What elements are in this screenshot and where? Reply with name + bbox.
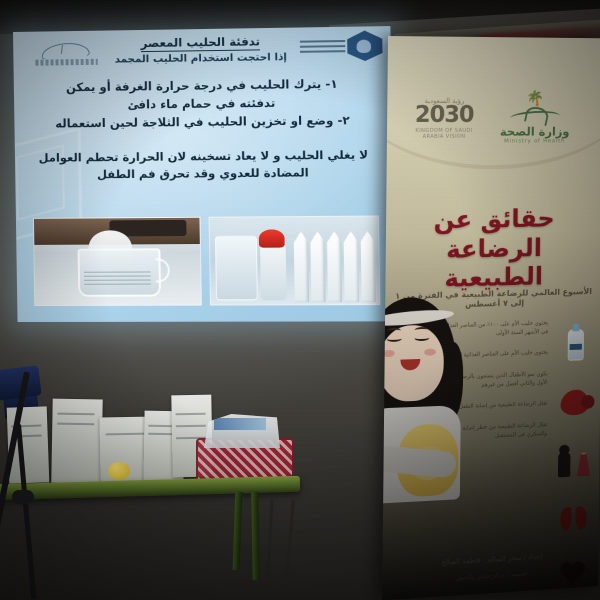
slide-warning: لا يغلي الحليب و لا يعاد تسخينه لان الحر…: [21, 146, 387, 184]
milk-bag: [294, 231, 310, 302]
rollup-banner: رؤية السعودية 2030 KINGDOM OF SAUDI ARAB…: [382, 36, 600, 600]
vision-2030-logo: رؤية السعودية 2030 KINGDOM OF SAUDI ARAB…: [409, 97, 480, 140]
banner-subtitle: الأسبوع العالمي للرضاعة الطبيعية في الفت…: [391, 286, 596, 311]
milk-bag: [360, 231, 376, 302]
vision-2030-number: 2030: [409, 105, 480, 127]
banner-credit-line-1: إعداد / سحر السالم - فاطمة الصالح: [392, 550, 589, 570]
presentation-room-scene: تدفئة الحليب المعصر إذا احتجت استخدام ال…: [0, 0, 600, 600]
tripod-knob: [12, 490, 34, 504]
ministry-english-name: Ministry of Health: [481, 138, 588, 144]
vision-2030-arabic: رؤية السعودية: [409, 97, 479, 105]
photo1-cup-markings: [84, 270, 150, 284]
illustration-face: [382, 324, 444, 402]
milk-bag: [343, 231, 359, 302]
banner-title-line-1: حقائق عن الرضاعة: [390, 203, 597, 265]
slide-warning-line-1: لا يغلي الحليب و لا يعاد تسخينه لان الحر…: [21, 146, 387, 167]
milk-bag: [310, 231, 326, 302]
slide-body-line-3: ٢- وضع او تخزين الحليب في الثلاجة لحين ا…: [22, 112, 383, 133]
illustration-baby: [397, 423, 459, 498]
bottle-in-warm-water-bath-photo: [33, 217, 202, 306]
slide-warning-line-2: المضادة للعدوي وقد تحرق فم الطفل: [21, 164, 387, 184]
illustration-blush-right: [424, 348, 436, 355]
illustration-hair: [382, 296, 456, 424]
banner-curve-decoration: [382, 36, 600, 170]
slide-photo-row: [33, 216, 380, 306]
banner-logo-row: رؤية السعودية 2030 KINGDOM OF SAUDI ARAB…: [387, 91, 600, 151]
tripod-leg: [16, 424, 36, 600]
banner-facts-list: يحتوي حليب الأم على ١٠٠٪ من العناصر الغذ…: [392, 319, 552, 458]
photo2-water-jug: [215, 236, 258, 301]
banner-fact-item: تقلل الرضاعة الطبيعية من خطر إصابة الطفل…: [392, 421, 551, 445]
banner-fact-item: يحتوي حليب الأم على ١٠٠٪ من العناصر الغذ…: [393, 319, 552, 341]
slide-title-text: تدفئة الحليب المعصر: [141, 34, 261, 52]
illustration-headband: [382, 307, 454, 328]
refrigerator-milk-storage-photo: [209, 216, 381, 306]
lemon-prop: [108, 462, 130, 480]
illustration-brow-left: [387, 328, 401, 334]
banner-title-line-2: الطبيعية: [389, 261, 596, 295]
sample-bag-label: [214, 418, 266, 430]
banner-fact-item: يكون نمو الأطفال الذين يتمتعون بالرضاعة …: [392, 370, 551, 393]
mother-holding-baby-illustration: [382, 296, 479, 505]
milk-bag: [327, 231, 343, 302]
illustration-eye-left: [387, 336, 402, 342]
banner-fact-item: تقلل الرضاعة الطبيعية من إصابة الطفل بال…: [392, 400, 551, 415]
palm-swords-icon: 🌴: [481, 91, 588, 106]
vision-2030-english: KINGDOM OF SAUDI ARABIA VISION: [409, 128, 479, 140]
photo2-baby-bottle: [260, 244, 286, 301]
illustration-eye-right: [414, 335, 429, 341]
ministry-arabic-name: وزارة الصحة: [481, 125, 588, 139]
lungs-icon: [552, 490, 596, 545]
banner-icon-column: [551, 318, 597, 600]
illustration-brow-right: [415, 327, 429, 333]
children-growth-icon: [552, 433, 596, 488]
illustration-blush-left: [383, 350, 395, 357]
projected-slide: تدفئة الحليب المعصر إذا احتجت استخدام ال…: [13, 26, 395, 322]
banner-title: حقائق عن الرضاعة الطبيعية: [389, 203, 596, 294]
banner-fact-item: يحتوي حليب الأم على العناصر الغذائية الت…: [393, 349, 552, 363]
illustration-mouth: [400, 359, 420, 371]
ministry-of-health-logo: 🌴 وزارة الصحة Ministry of Health: [481, 91, 588, 144]
slide-body: ١- يترك الحليب في درجة حرارة الغرفة أو ي…: [22, 75, 384, 134]
milk-bottle-icon: [553, 318, 597, 372]
stomach-organ-icon: [553, 375, 597, 429]
illustration-body: [382, 405, 461, 504]
banner-credit-line-2: تصميم / مركز صحي بالجبيل: [392, 565, 589, 585]
illustration-hair-right: [437, 342, 463, 422]
photo2-milk-storage-bags: [294, 231, 376, 302]
moh-swoosh-icon: [510, 107, 560, 123]
projector-stand: [0, 372, 68, 600]
illustration-arm: [382, 445, 458, 479]
